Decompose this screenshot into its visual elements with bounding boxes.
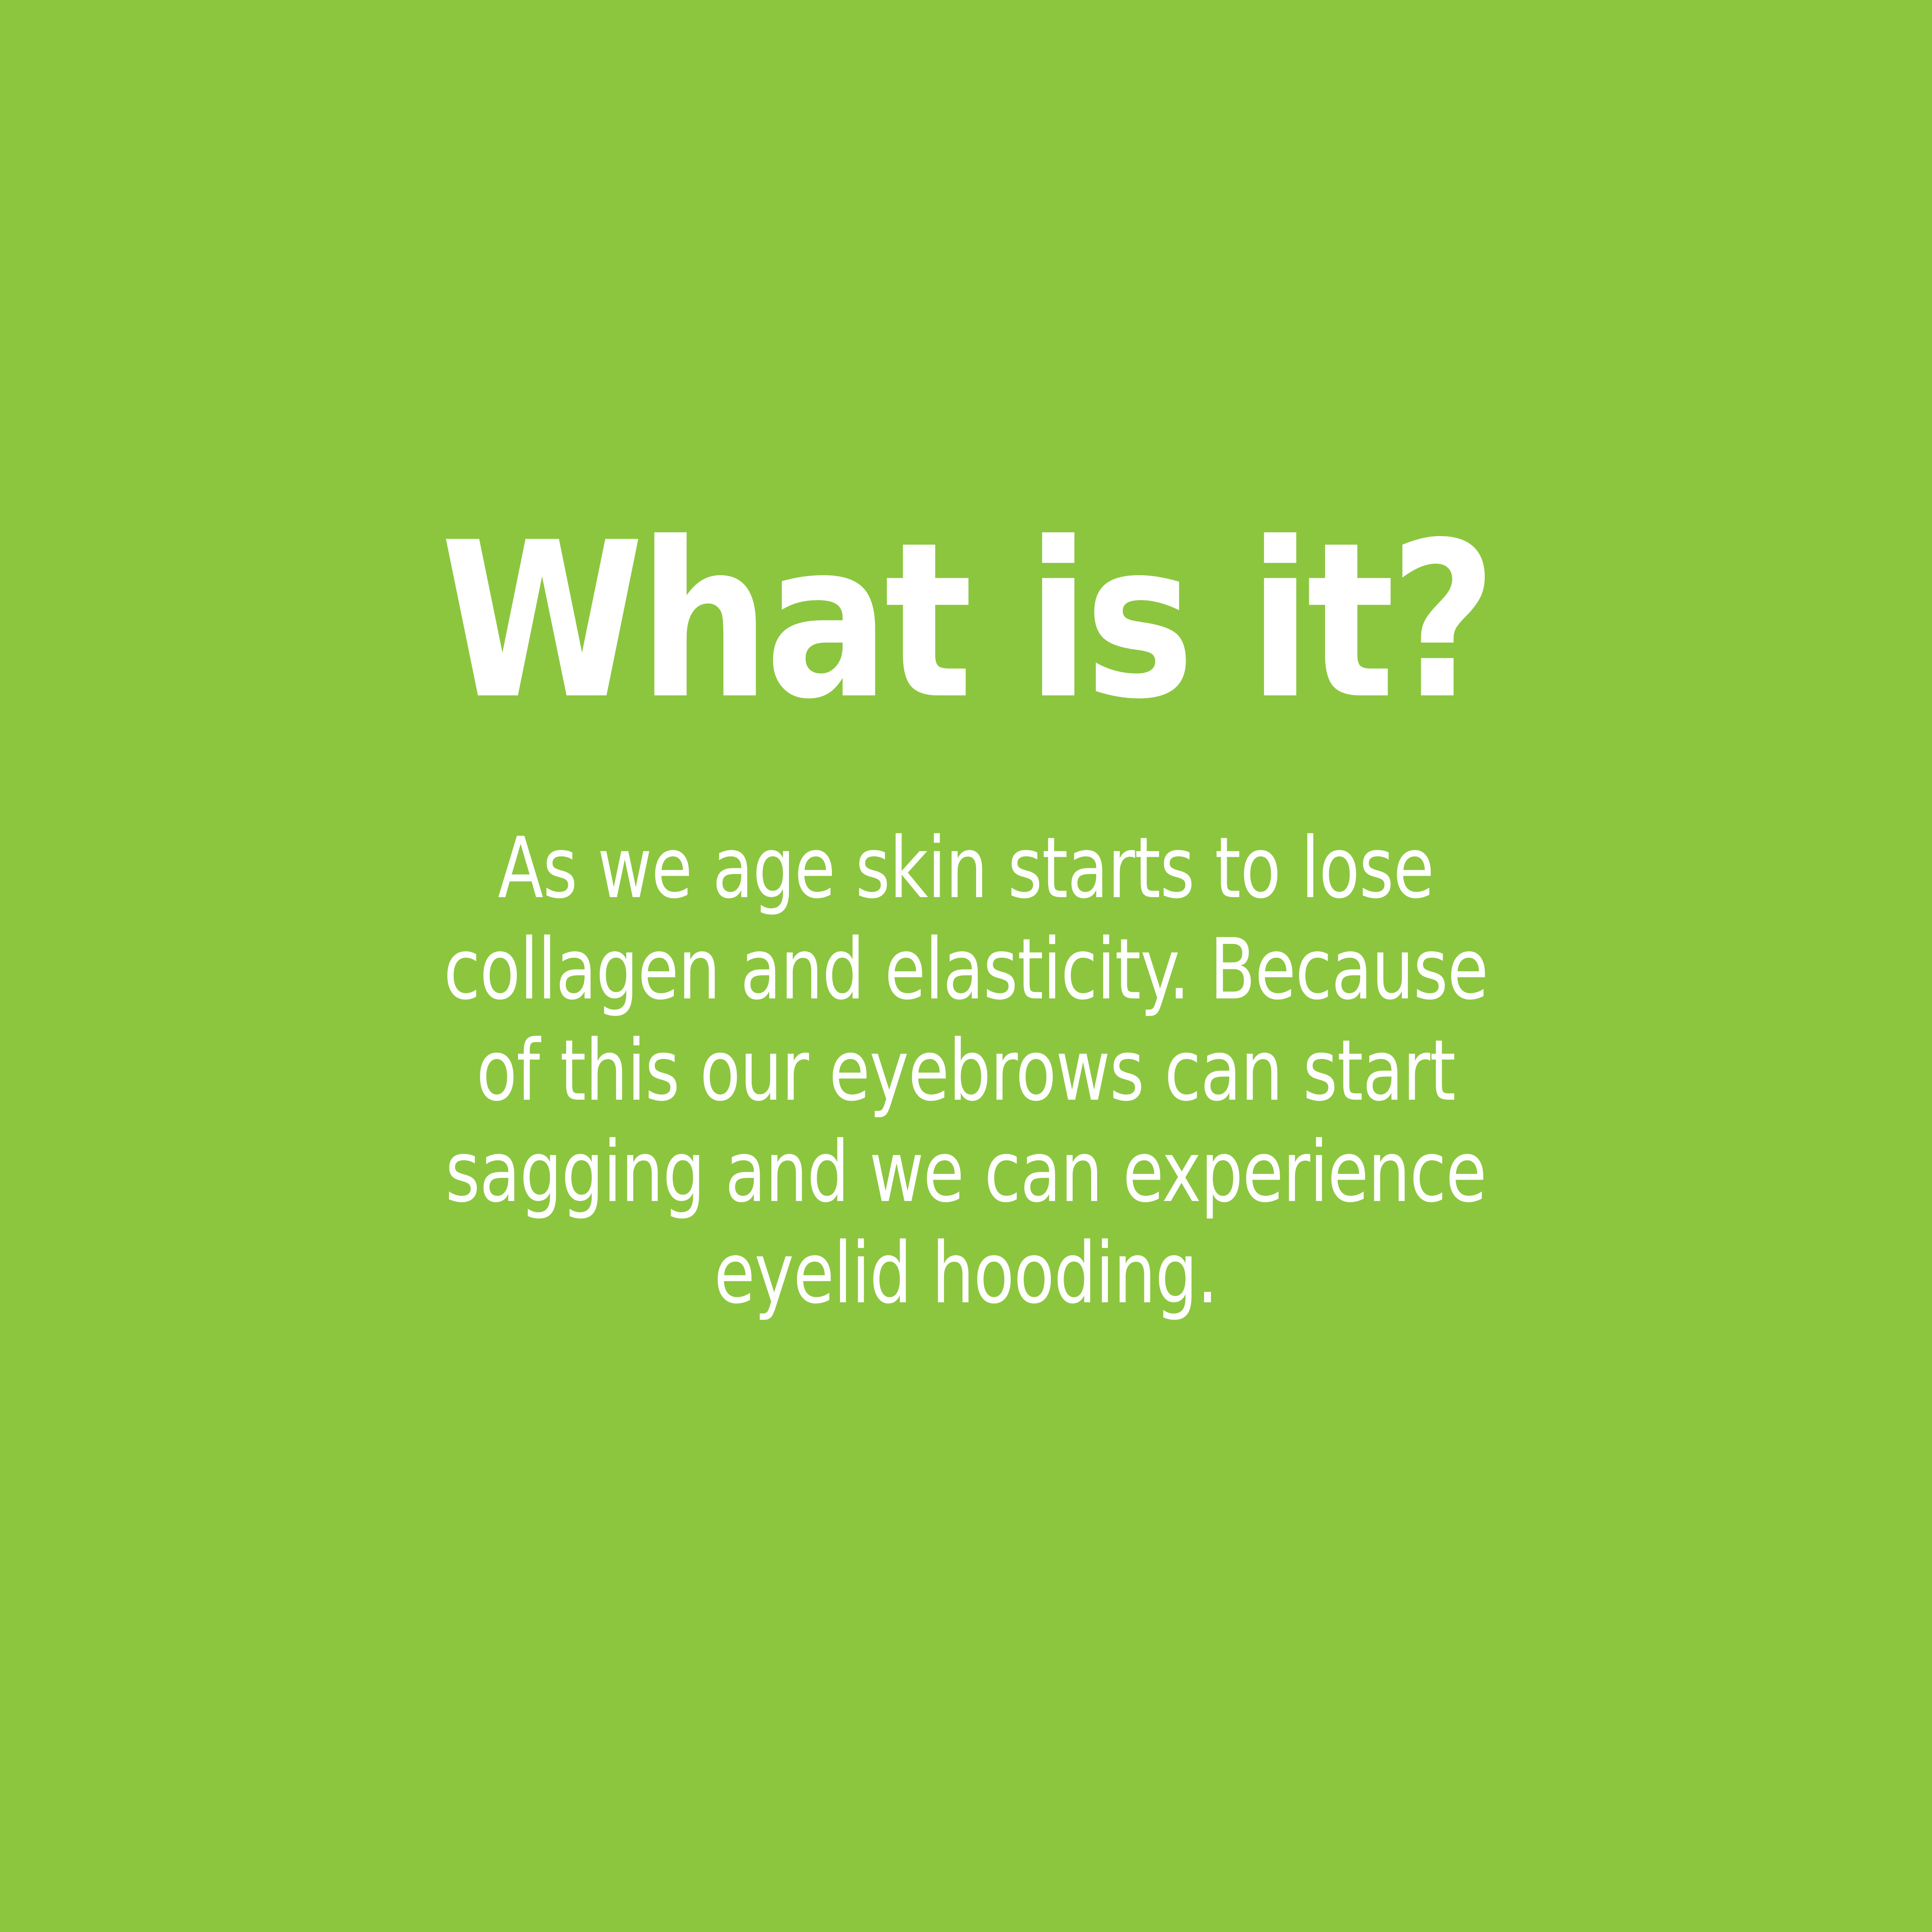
body-line: of this our eyebrows can start [429,1020,1502,1122]
body-paragraph: As we age skin starts to lose collagen a… [429,818,1502,1324]
body-line: As we age skin starts to lose [429,818,1502,919]
body-line: sagging and we can experience [429,1122,1502,1223]
page-title: What is it? [135,507,1797,735]
body-line: collagen and elasticity. Because [429,919,1502,1020]
body-line: eyelid hooding. [429,1223,1502,1324]
text-content-block: What is it? As we age skin starts to los… [0,0,1932,1932]
slide-canvas: What is it? As we age skin starts to los… [0,0,1932,1932]
